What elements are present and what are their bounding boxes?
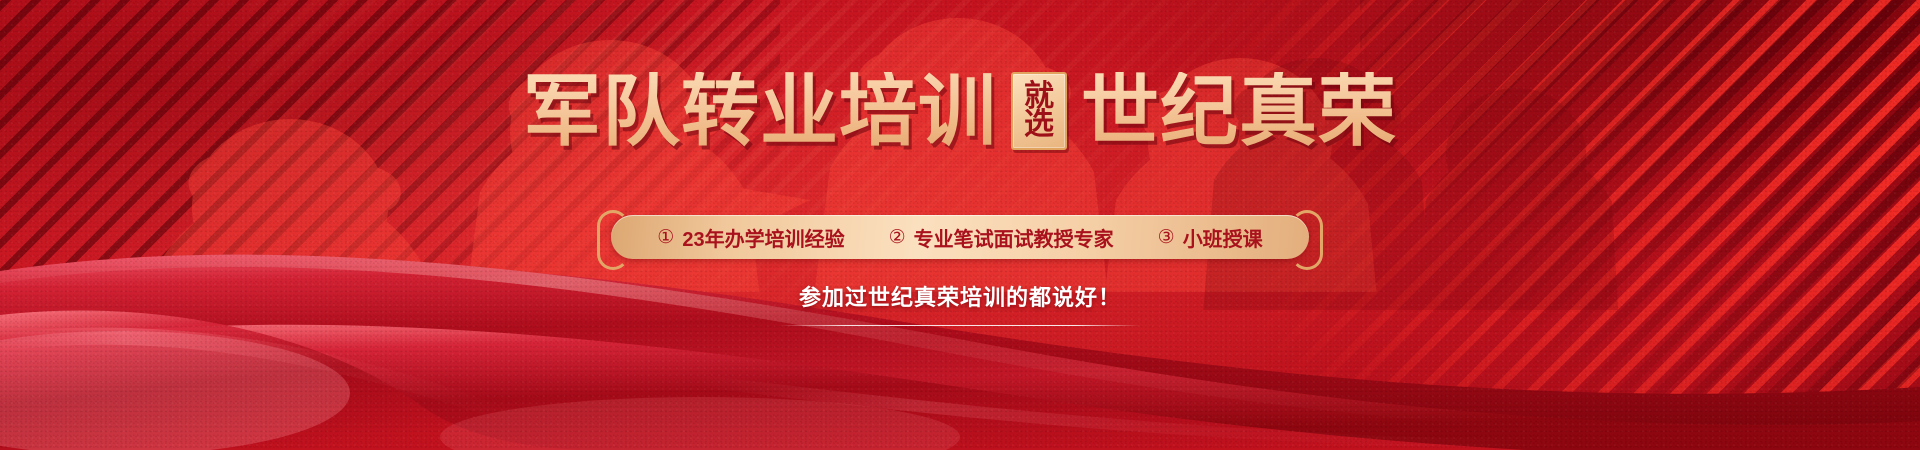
promo-banner: 军队转业培训 就 选 世纪真荣 ① 23年办学培训经验 ② 专业笔试面试教授专家 [0, 0, 1920, 450]
banner-content: 军队转业培训 就 选 世纪真荣 ① 23年办学培训经验 ② 专业笔试面试教授专家 [0, 0, 1920, 450]
headline-left-text: 军队转业培训 [523, 72, 997, 150]
tagline-text: 参加过世纪真荣培训的都说好！ [799, 280, 1121, 312]
headline-right-text: 世纪真荣 [1081, 72, 1397, 150]
jiuxuan-badge: 就 选 [1011, 72, 1067, 150]
tagline-wrap: 参加过世纪真荣培训的都说好！ [0, 235, 1920, 326]
tagline-underline [780, 325, 1140, 326]
badge-char-top: 就 [1024, 83, 1054, 111]
headline: 军队转业培训 就 选 世纪真荣 [0, 72, 1920, 150]
badge-char-bottom: 选 [1024, 111, 1054, 139]
